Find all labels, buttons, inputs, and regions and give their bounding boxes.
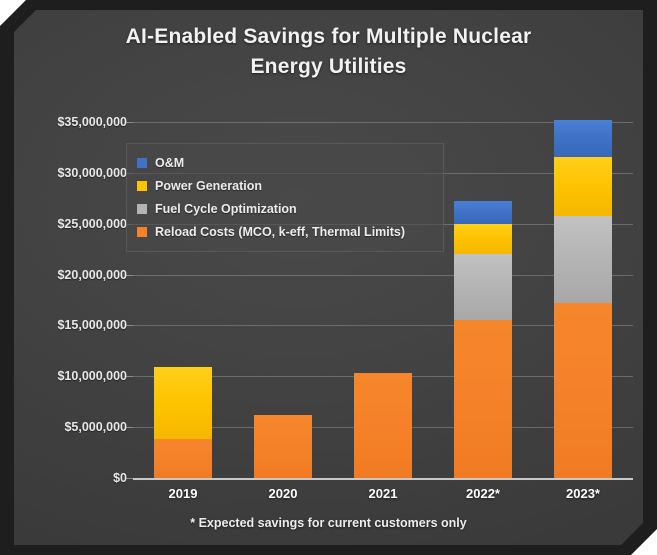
chart-footnote: * Expected savings for current customers… xyxy=(60,516,597,530)
y-axis-tick-label: $25,000,000 xyxy=(9,217,127,231)
bar-segment xyxy=(454,201,512,223)
bar-segment xyxy=(454,224,512,255)
chart-title-line-1: AI-Enabled Savings for Multiple Nuclear xyxy=(60,22,597,52)
legend-item: Power Generation xyxy=(137,174,433,197)
x-axis-tick-label: 2022* xyxy=(438,486,528,501)
bar-segment xyxy=(354,373,412,478)
legend-swatch-icon xyxy=(137,227,147,237)
bar-segment xyxy=(154,439,212,478)
x-axis-line xyxy=(133,478,633,480)
y-axis-tick-mark xyxy=(126,376,133,377)
chart-title-line-2: Energy Utilities xyxy=(60,52,597,82)
legend-item-label: O&M xyxy=(155,156,184,170)
y-axis-tick-mark xyxy=(126,122,133,123)
y-axis-tick-label: $10,000,000 xyxy=(9,369,127,383)
y-axis-tick-mark xyxy=(126,427,133,428)
y-axis-tick-mark xyxy=(126,275,133,276)
chart-legend: O&MPower GenerationFuel Cycle Optimizati… xyxy=(126,143,444,252)
legend-item: O&M xyxy=(137,151,433,174)
x-axis-tick-label: 2023* xyxy=(538,486,628,501)
bar-segment xyxy=(154,367,212,439)
legend-item: Reload Costs (MCO, k-eff, Thermal Limits… xyxy=(137,220,433,243)
legend-swatch-icon xyxy=(137,158,147,168)
bar-segment xyxy=(254,415,312,478)
legend-item: Fuel Cycle Optimization xyxy=(137,197,433,220)
bar-segment xyxy=(554,157,612,216)
y-axis-tick-label: $30,000,000 xyxy=(9,166,127,180)
x-axis-tick-label: 2019 xyxy=(138,486,228,501)
y-axis-tick-mark xyxy=(126,325,133,326)
bar-segment xyxy=(454,254,512,320)
legend-swatch-icon xyxy=(137,204,147,214)
bar-segment xyxy=(554,216,612,303)
legend-swatch-icon xyxy=(137,181,147,191)
bar-segment xyxy=(554,303,612,478)
x-axis-tick-label: 2021 xyxy=(338,486,428,501)
bar-segment xyxy=(454,320,512,478)
legend-item-label: Power Generation xyxy=(155,179,262,193)
legend-item-label: Fuel Cycle Optimization xyxy=(155,202,297,216)
y-axis: $35,000,000$30,000,000$25,000,000$20,000… xyxy=(0,0,127,555)
y-axis-tick-mark xyxy=(126,478,133,479)
bar-column xyxy=(554,122,612,478)
x-axis-tick-label: 2020 xyxy=(238,486,328,501)
y-axis-tick-label: $15,000,000 xyxy=(9,318,127,332)
y-axis-tick-label: $35,000,000 xyxy=(9,115,127,129)
legend-item-label: Reload Costs (MCO, k-eff, Thermal Limits… xyxy=(155,225,405,239)
y-axis-tick-label: $5,000,000 xyxy=(9,420,127,434)
chart-screenshot: AI-Enabled Savings for Multiple Nuclear … xyxy=(0,0,657,555)
y-axis-tick-label: $20,000,000 xyxy=(9,268,127,282)
bar-column xyxy=(454,122,512,478)
chart-title: AI-Enabled Savings for Multiple Nuclear … xyxy=(60,22,597,82)
y-axis-tick-label: $0 xyxy=(9,471,127,485)
bar-segment xyxy=(554,120,612,157)
